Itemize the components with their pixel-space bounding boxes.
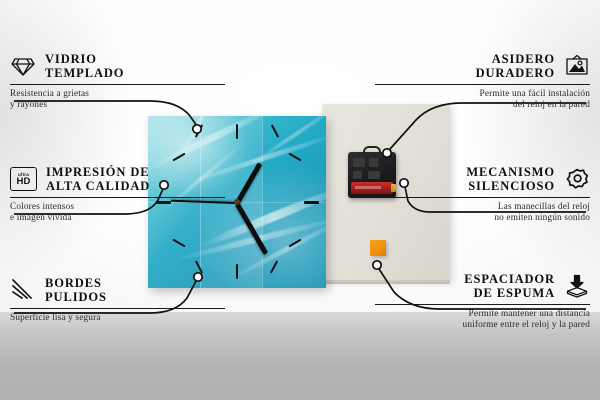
- feature-rule: [375, 304, 590, 305]
- clock-tick: [288, 153, 301, 162]
- feature-desc-line1: Colores intensos: [10, 202, 74, 212]
- feature-description: Resistencia a grietas y rayones: [10, 89, 225, 112]
- polished-edges-icon: [10, 278, 36, 302]
- clock-center-hub: [234, 199, 240, 205]
- feature-impresion-alta-calidad: ultra HD IMPRESIÓN DE ALTA CALIDAD Color…: [10, 165, 225, 225]
- feature-desc-line1: Resistencia a grietas: [10, 89, 89, 99]
- feature-rule: [375, 84, 590, 85]
- feature-description: Colores intensos e imagen vívida: [10, 202, 225, 225]
- feature-title: IMPRESIÓN DE ALTA CALIDAD: [46, 165, 150, 193]
- feature-title-line2: SILENCIOSO: [468, 179, 555, 193]
- feature-mecanismo-silencioso: MECANISMO SILENCIOSO Las manecillas del …: [375, 165, 590, 225]
- wall-hanger-frame-icon: [564, 54, 590, 78]
- feature-title-line1: IMPRESIÓN DE: [46, 165, 150, 179]
- feature-title-line2: ALTA CALIDAD: [46, 179, 150, 193]
- feature-title-line2: TEMPLADO: [45, 66, 124, 80]
- clock-tick: [270, 260, 278, 273]
- foam-spacer: [370, 240, 386, 256]
- feature-title-line2: DURADERO: [476, 66, 555, 80]
- clock-tick: [304, 201, 319, 204]
- feature-title: BORDES PULIDOS: [45, 276, 107, 304]
- feature-desc-line1: Las manecillas del reloj: [498, 202, 590, 212]
- feature-desc-line1: Superficie lisa y segura: [10, 313, 101, 323]
- feature-asidero-duradero: ASIDERO DURADERO Permite una fácil insta…: [375, 52, 590, 112]
- feature-header: ASIDERO DURADERO: [375, 52, 590, 80]
- clock-tick: [271, 124, 279, 137]
- feature-title: ASIDERO DURADERO: [476, 52, 555, 80]
- movement-detail: [353, 158, 365, 167]
- feature-title-line1: VIDRIO: [45, 52, 97, 66]
- feature-header: VIDRIO TEMPLADO: [10, 52, 225, 80]
- feature-rule: [10, 308, 225, 309]
- feature-rule: [10, 197, 225, 198]
- feature-header: ultra HD IMPRESIÓN DE ALTA CALIDAD: [10, 165, 225, 193]
- feature-header: ESPACIADOR DE ESPUMA: [375, 272, 590, 300]
- hanger-hook-icon: [363, 146, 381, 156]
- gear-icon: [564, 167, 590, 191]
- feature-bordes-pulidos: BORDES PULIDOS Superficie lisa y segura: [10, 276, 225, 324]
- feature-vidrio-templado: VIDRIO TEMPLADO Resistencia a grietas y …: [10, 52, 225, 112]
- feature-desc-line2: del reloj en la pared: [513, 100, 590, 110]
- feature-rule: [10, 84, 225, 85]
- feature-description: Superficie lisa y segura: [10, 313, 225, 324]
- feature-title: ESPACIADOR DE ESPUMA: [464, 272, 555, 300]
- feature-description: Permite una fácil instalación del reloj …: [375, 89, 590, 112]
- feature-espaciador-de-espuma: ESPACIADOR DE ESPUMA Permite mantener un…: [375, 272, 590, 332]
- clock-tick: [236, 264, 238, 279]
- feature-title: MECANISMO SILENCIOSO: [466, 165, 555, 193]
- feature-description: Permite mantener una distancia uniforme …: [375, 309, 590, 332]
- feature-title-line1: ESPACIADOR: [464, 272, 555, 286]
- feature-title-line1: ASIDERO: [492, 52, 555, 66]
- feature-header: MECANISMO SILENCIOSO: [375, 165, 590, 193]
- feature-desc-line1: Permite mantener una distancia: [469, 309, 590, 319]
- feature-header: BORDES PULIDOS: [10, 276, 225, 304]
- feature-desc-line2: e imagen vívida: [10, 213, 72, 223]
- feature-title-line1: BORDES: [45, 276, 102, 290]
- movement-detail: [353, 171, 362, 179]
- feature-desc-line2: no emiten ningún sonido: [494, 213, 590, 223]
- foam-spacer-arrow-icon: [564, 274, 590, 298]
- feature-title-line2: DE ESPUMA: [474, 286, 555, 300]
- infographic-canvas: VIDRIO TEMPLADO Resistencia a grietas y …: [0, 0, 600, 400]
- feature-description: Las manecillas del reloj no emiten ningú…: [375, 202, 590, 225]
- feature-rule: [375, 197, 590, 198]
- feature-desc-line2: uniforme entre el reloj y la pared: [463, 320, 590, 330]
- ultra-hd-icon: ultra HD: [10, 167, 37, 191]
- ultra-hd-icon-main-text: HD: [17, 177, 31, 187]
- feature-title-line2: PULIDOS: [45, 290, 107, 304]
- clock-tick: [236, 124, 238, 139]
- feature-desc-line2: y rayones: [10, 100, 47, 110]
- feature-title: VIDRIO TEMPLADO: [45, 52, 124, 80]
- feature-title-line1: MECANISMO: [466, 165, 555, 179]
- feature-desc-line1: Permite una fácil instalación: [480, 89, 590, 99]
- diamond-icon: [10, 54, 36, 78]
